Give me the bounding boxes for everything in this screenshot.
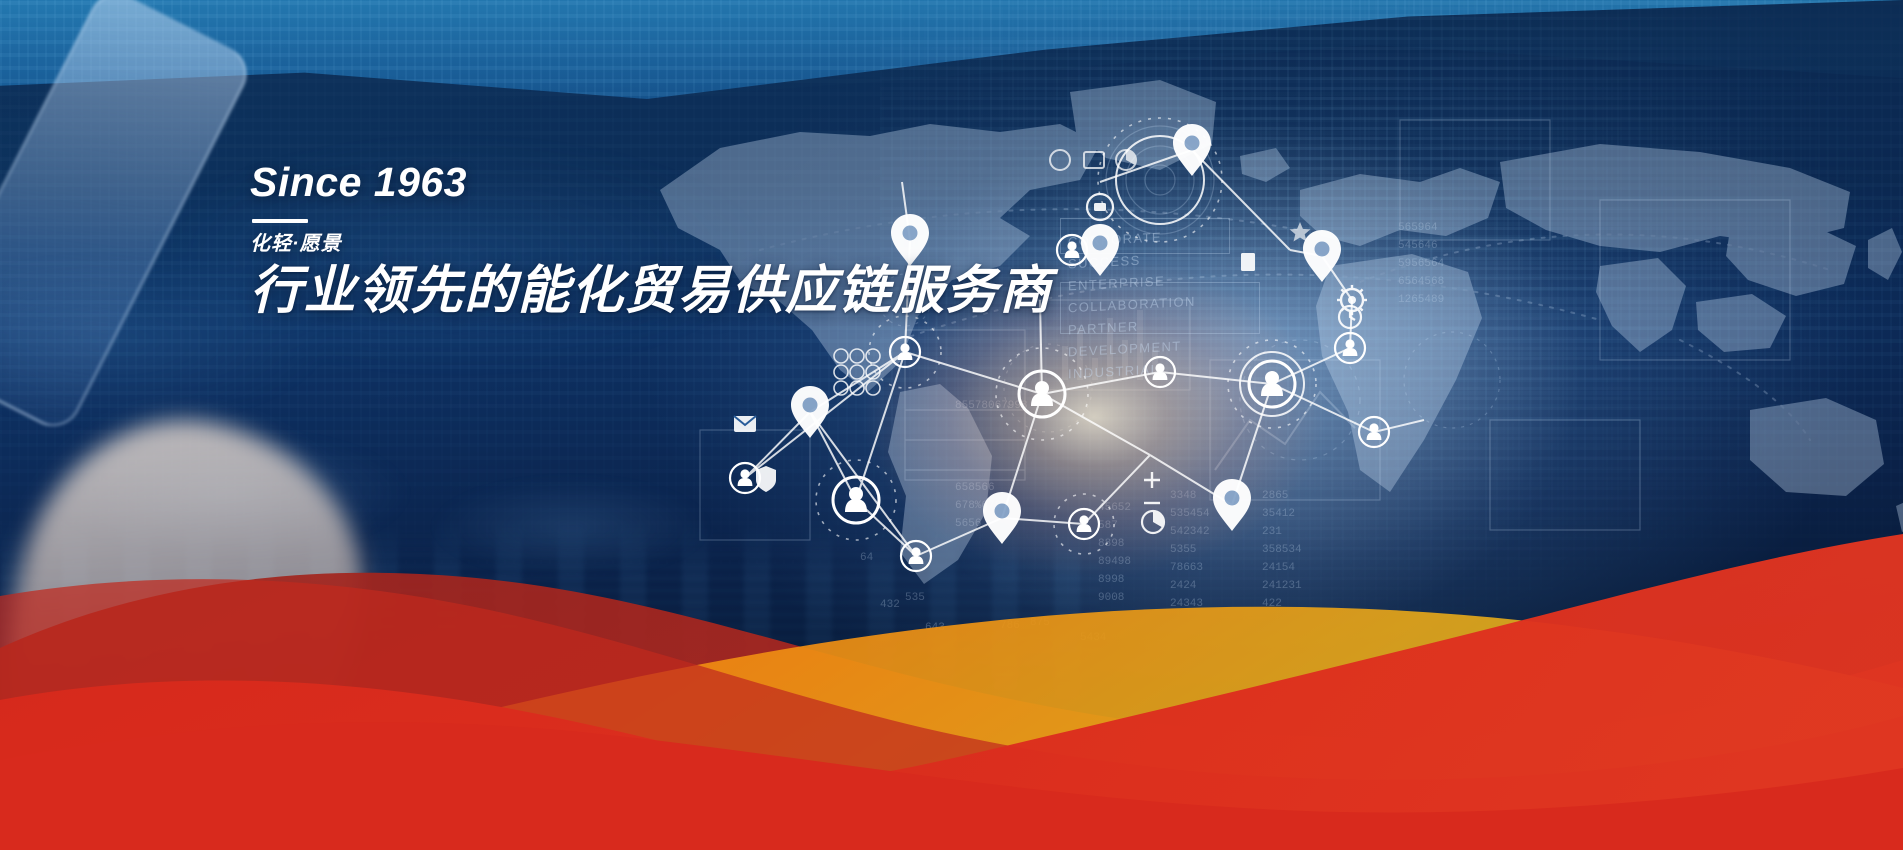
bottom-color-waves	[0, 0, 1903, 850]
page-title: 行业领先的能化贸易供应链服务商	[250, 262, 1053, 320]
eyebrow-since-year: Since 1963	[250, 162, 1053, 203]
title-divider-rule	[252, 219, 308, 223]
hero-banner: 565964 545646 5956564 6564568 1265489 33…	[0, 0, 1903, 850]
subtitle-vision: 化轻·愿景	[250, 232, 1053, 256]
hero-copy-block: Since 1963 化轻·愿景 行业领先的能化贸易供应链服务商	[250, 162, 1053, 320]
